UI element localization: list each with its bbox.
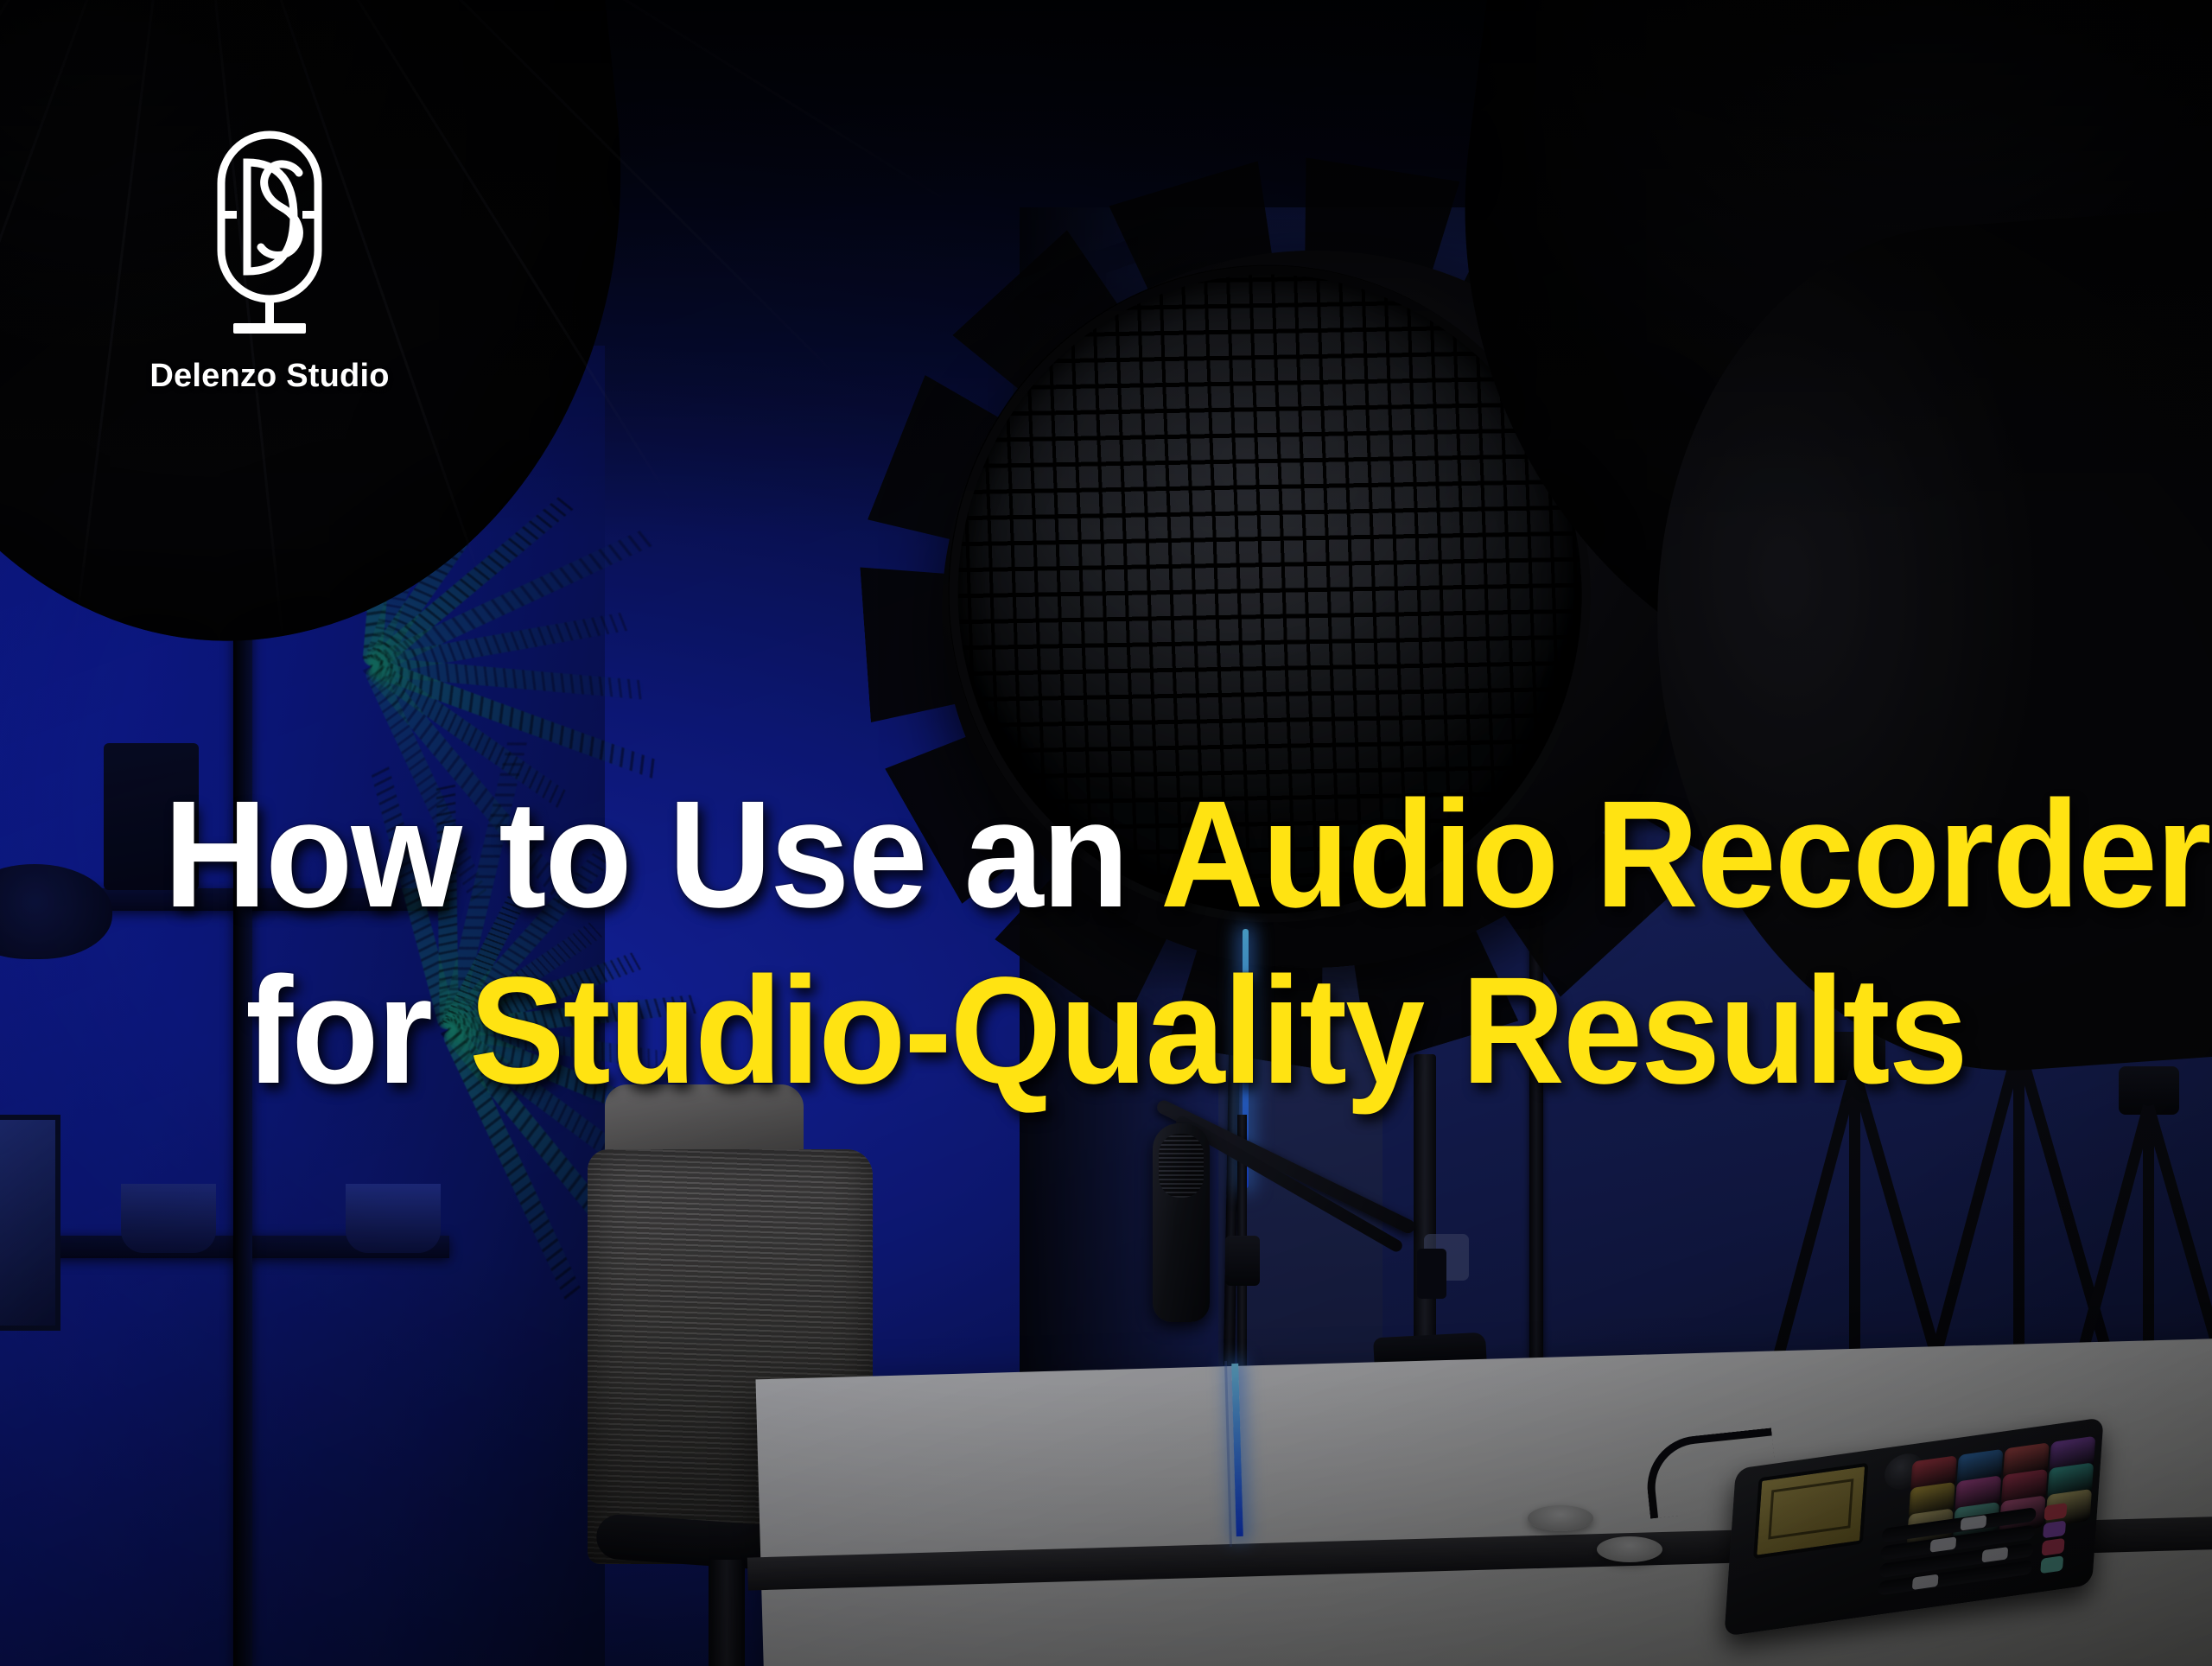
headline-line-1: How to Use an Audio Recorder (164, 778, 2049, 933)
microphone-monogram-icon (209, 128, 330, 344)
headline-line-2: for Studio-Quality Results (164, 954, 2049, 1110)
headline-yellow-1: Audio Recorder (1160, 770, 2210, 939)
brand-name: Delenzo Studio (149, 358, 391, 395)
cover-image: SIGMA amaran 100x Parabolic SE (0, 0, 2212, 1666)
headline-yellow-2: Studio-Quality Results (469, 946, 1967, 1116)
headline-white-1: How to Use an (164, 770, 1160, 939)
brand-logo[interactable]: Delenzo Studio (149, 128, 391, 395)
headline-white-2: for (245, 946, 469, 1116)
page-title: How to Use an Audio Recorder for Studio-… (0, 778, 2212, 1109)
